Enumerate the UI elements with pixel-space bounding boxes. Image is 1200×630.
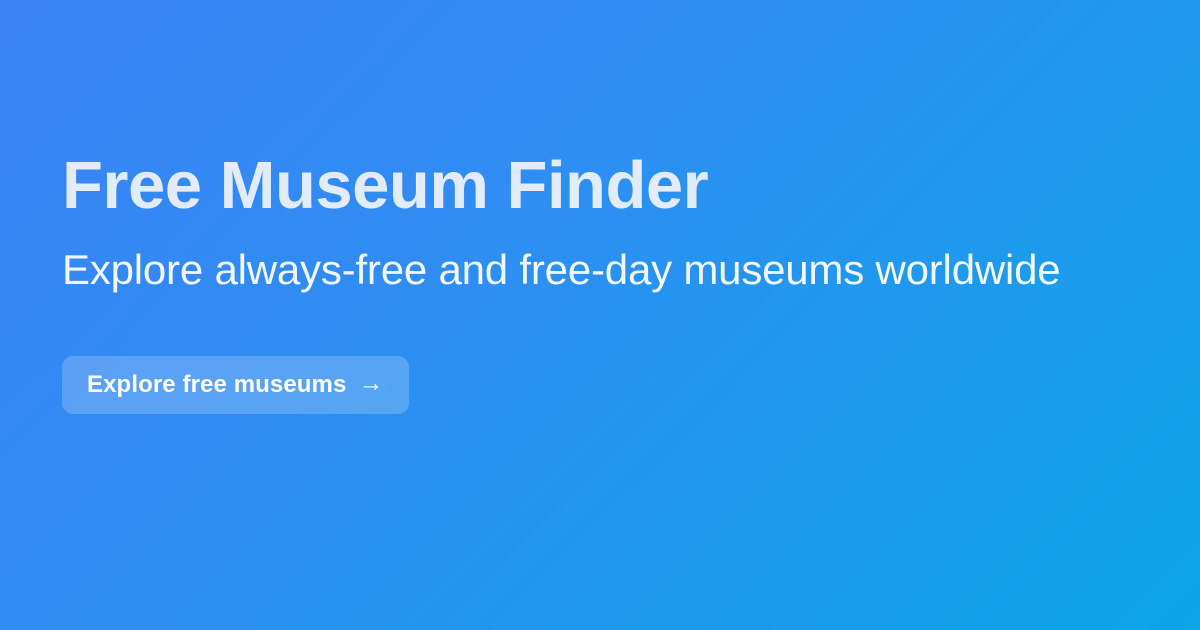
hero-content: Free Museum Finder Explore always-free a… — [62, 0, 1122, 630]
cta-button-label: Explore free museums — [87, 371, 346, 399]
page-title: Free Museum Finder — [62, 152, 708, 219]
page-subtitle: Explore always-free and free-day museums… — [62, 219, 1060, 293]
arrow-right-icon: → — [358, 371, 383, 396]
explore-free-museums-button[interactable]: Explore free museums → — [62, 356, 409, 414]
og-preview-card: Free Museum Finder Explore always-free a… — [0, 0, 1200, 630]
